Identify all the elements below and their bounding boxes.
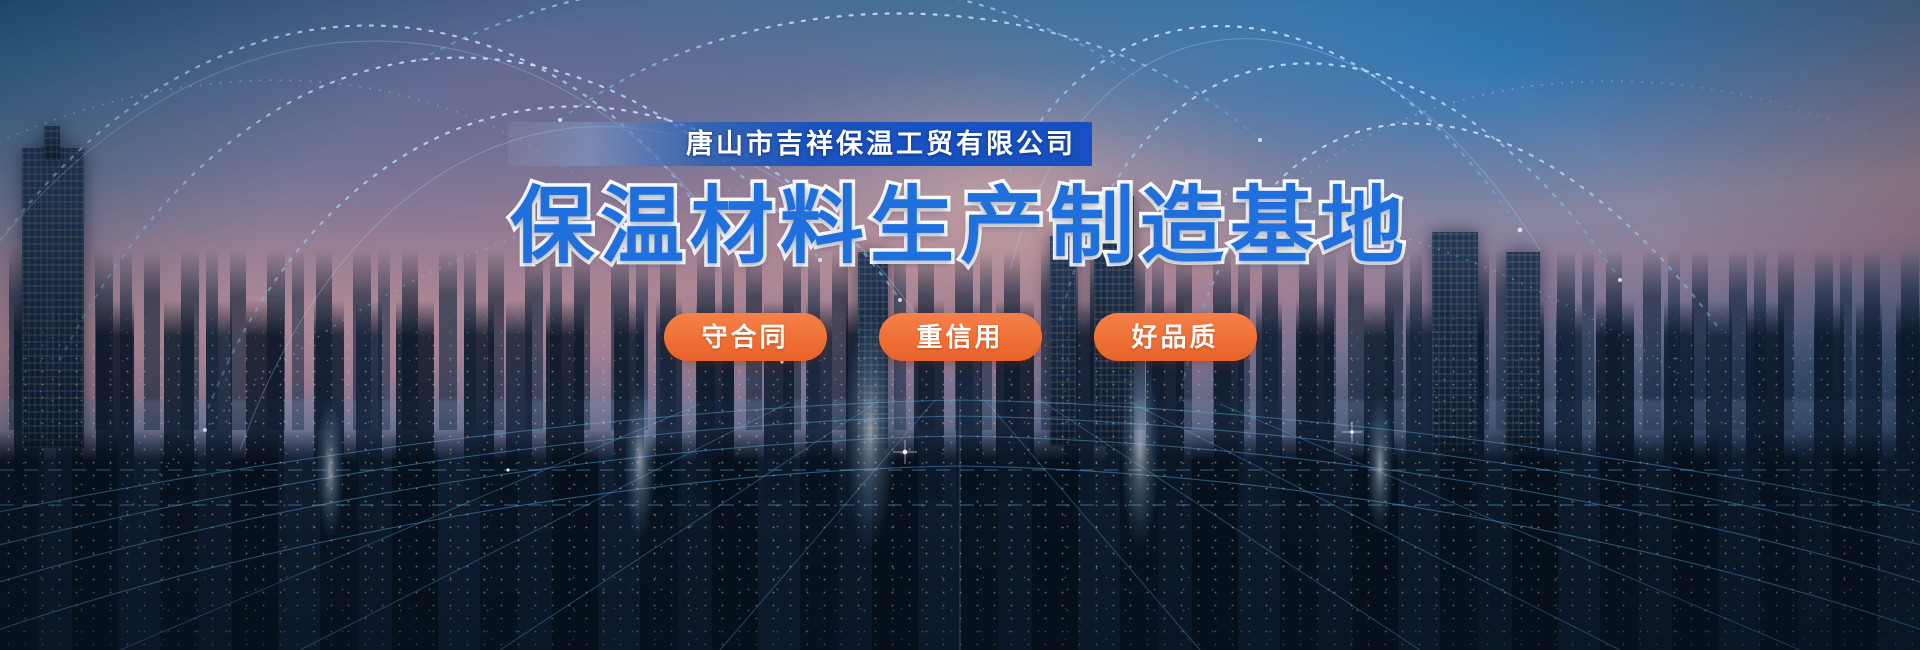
hero-banner: 唐山市吉祥保温工贸有限公司 保温材料生产制造基地 守合同 重信用 好品质: [0, 0, 1920, 650]
feature-pill-2-label: 重信用: [916, 324, 1003, 350]
feature-pill-1[interactable]: 守合同: [664, 313, 827, 361]
feature-pill-2[interactable]: 重信用: [879, 313, 1042, 361]
banner-content: 唐山市吉祥保温工贸有限公司 保温材料生产制造基地 守合同 重信用 好品质: [0, 0, 1920, 650]
company-name: 唐山市吉祥保温工贸有限公司: [686, 131, 1076, 158]
feature-pill-3[interactable]: 好品质: [1094, 313, 1257, 361]
feature-pill-3-label: 好品质: [1131, 324, 1218, 350]
banner-headline: 保温材料生产制造基地: [0, 182, 1920, 270]
company-name-ribbon: 唐山市吉祥保温工贸有限公司: [508, 122, 1092, 166]
feature-pill-1-label: 守合同: [701, 324, 788, 350]
feature-pill-group: 守合同 重信用 好品质: [0, 313, 1920, 361]
